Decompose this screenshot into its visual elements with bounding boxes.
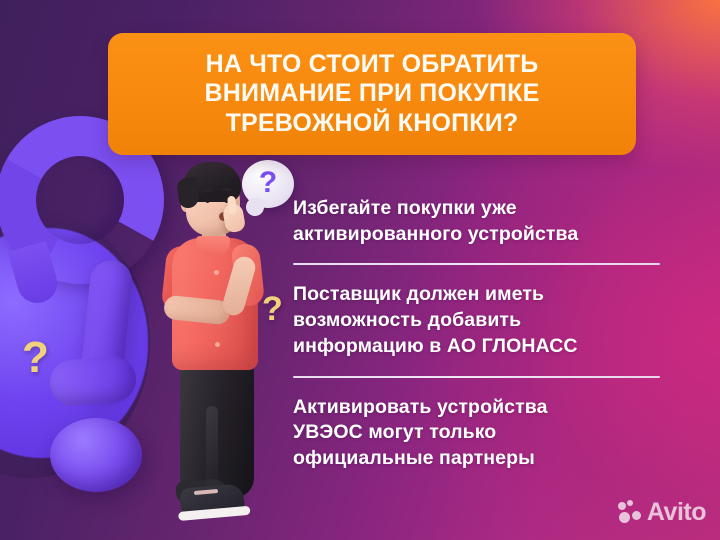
- poster-canvas: ? ? ? НА ЧТО СТОИТ ОБРАТИТЬ ВНИМАНИЕ П: [0, 0, 720, 540]
- list-item: Поставщик должен иметь возможность добав…: [293, 282, 665, 359]
- question-mark-dot: [50, 418, 142, 492]
- avito-logo-icon: [618, 500, 642, 524]
- page-title: НА ЧТО СТОИТ ОБРАТИТЬ ВНИМАНИЕ ПРИ ПОКУП…: [191, 50, 554, 139]
- speech-bubble-icon: ?: [242, 160, 294, 208]
- avito-dot: [632, 511, 641, 520]
- avito-wordmark: Avito: [647, 500, 706, 525]
- list-divider: [293, 376, 660, 378]
- avito-dot: [627, 500, 633, 506]
- thinking-person-illustration: [150, 160, 300, 525]
- avito-dot: [619, 512, 630, 523]
- list-divider: [293, 263, 660, 265]
- speech-bubble-question-mark: ?: [242, 160, 294, 208]
- person-shoe: [179, 483, 245, 514]
- person-leg-highlight: [206, 406, 218, 498]
- avito-dot: [618, 502, 626, 510]
- person-shirt-button: [214, 270, 219, 275]
- list-item: Избегайте покупки уже активированного ус…: [293, 196, 665, 247]
- person-eye: [205, 196, 210, 203]
- list-item: Активировать устройства УВЭОС могут толь…: [293, 395, 665, 472]
- small-question-mark-left-icon: ?: [22, 336, 49, 380]
- person-eyebrow: [222, 188, 231, 192]
- advice-list: Избегайте покупки уже активированного ус…: [293, 196, 665, 472]
- header-card: НА ЧТО СТОИТ ОБРАТИТЬ ВНИМАНИЕ ПРИ ПОКУП…: [108, 33, 636, 155]
- avito-watermark: Avito: [618, 498, 706, 526]
- question-mark-foot: [49, 355, 138, 407]
- person-shirt-button: [215, 342, 220, 347]
